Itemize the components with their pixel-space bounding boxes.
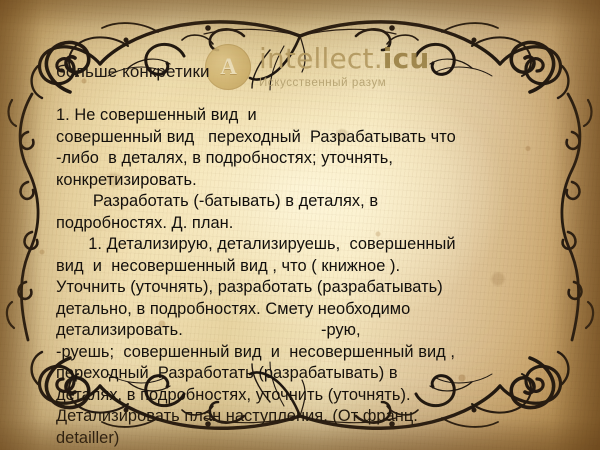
- slide-canvas: A intellect.icu Искусственный разум боль…: [0, 0, 600, 450]
- watermark-brand-accent: icu: [383, 42, 430, 75]
- watermark-tagline: Искусственный разум: [259, 78, 430, 90]
- watermark: A intellect.icu Искусственный разум: [205, 44, 430, 90]
- watermark-text: intellect.icu Искусственный разум: [259, 45, 430, 90]
- ornament-left-icon: [2, 92, 60, 342]
- watermark-logo-icon: A: [205, 44, 251, 90]
- paragraph-1: 1. Не совершенный вид и совершенный вид …: [56, 105, 556, 191]
- slide-heading: больше конкретики: [56, 62, 210, 82]
- paragraph-3: 1. Детализирую, детализируешь, совершенн…: [56, 234, 556, 449]
- watermark-brand: intellect.icu: [259, 45, 430, 73]
- watermark-logo-glyph: A: [205, 44, 251, 90]
- paragraph-2: Разработать (-батывать) в деталях, в под…: [56, 191, 556, 234]
- slide-body: 1. Не совершенный вид и совершенный вид …: [56, 105, 556, 449]
- watermark-brand-primary: intellect.: [259, 42, 383, 75]
- ornament-top-icon: [8, 6, 592, 102]
